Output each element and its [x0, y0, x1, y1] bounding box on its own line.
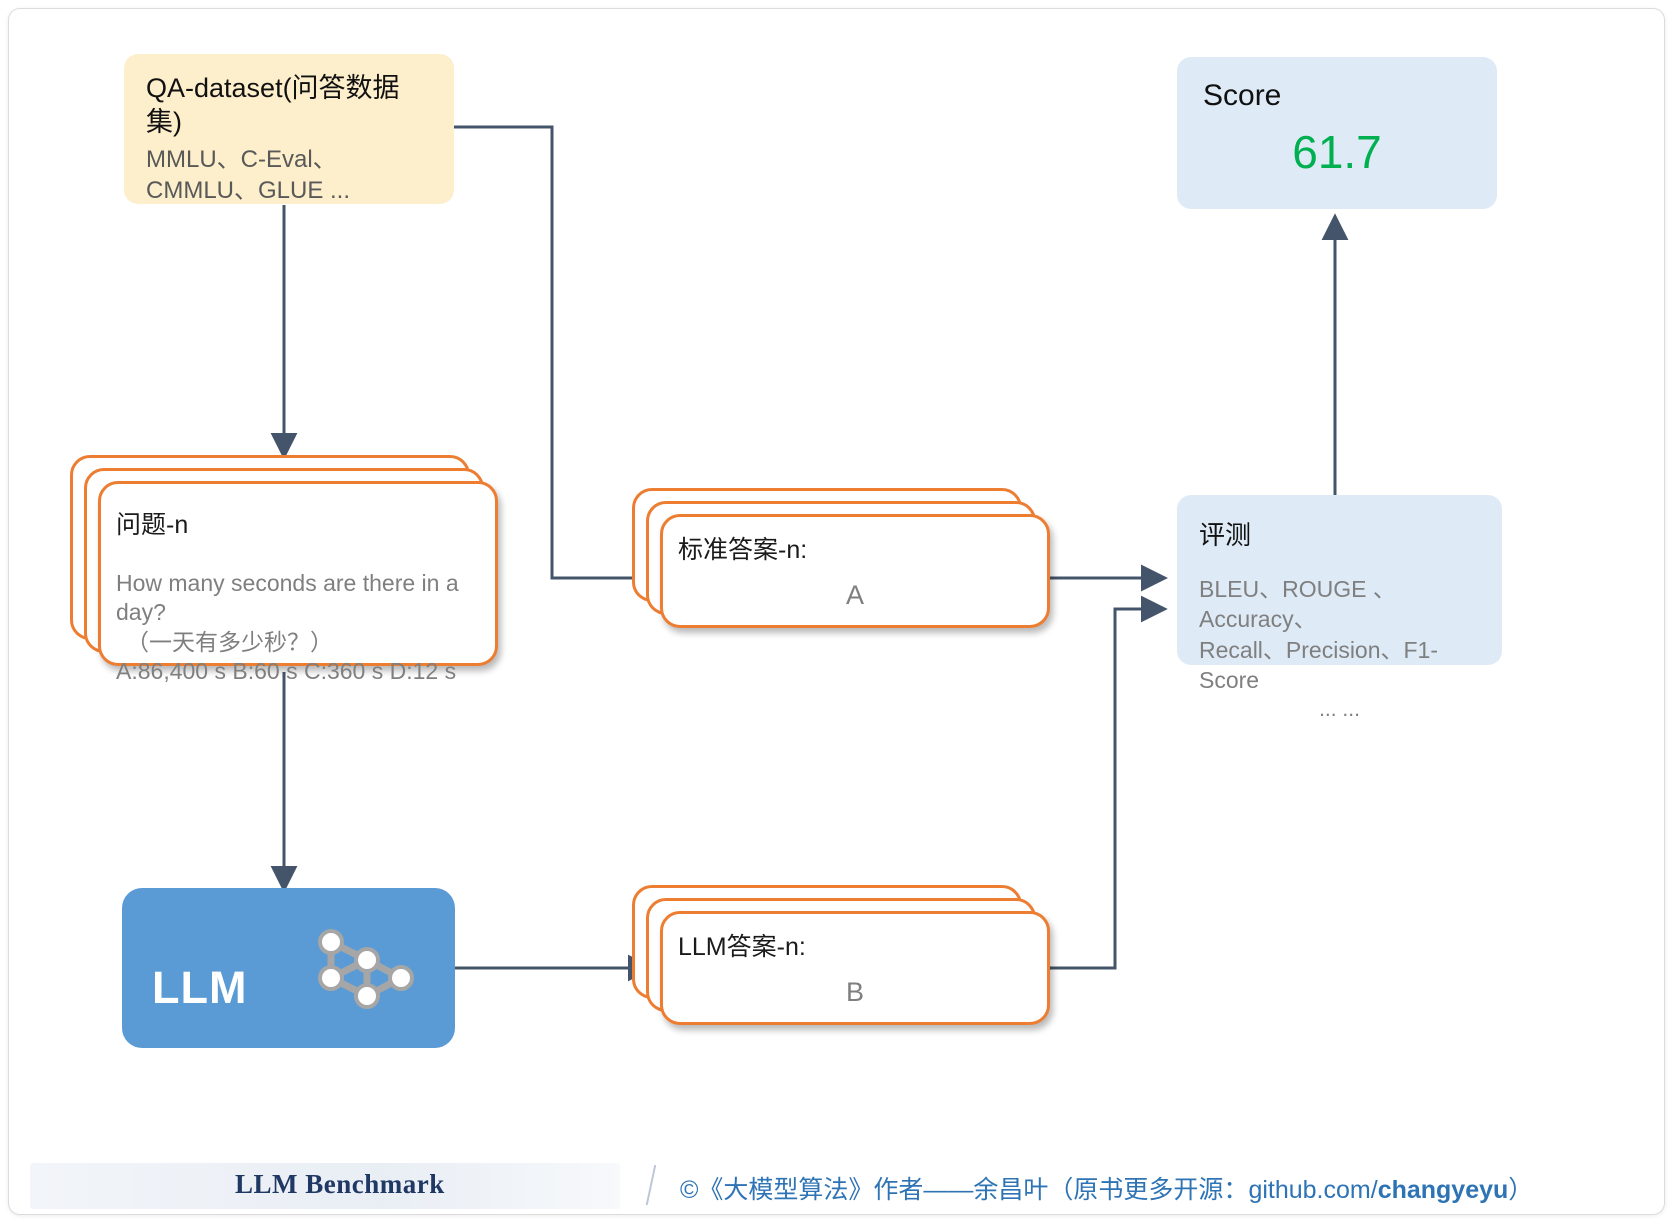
question-card-options: A:86,400 s B:60 s C:360 s D:12 s	[116, 657, 480, 686]
llm-answer-card-stack[interactable]: LLM答案-n: B	[632, 885, 1062, 1040]
llm-box[interactable]: LLM	[122, 888, 455, 1048]
question-card-stack[interactable]: 问题-n How many seconds are there in a day…	[70, 455, 500, 670]
evaluation-line2: Recall、Precision、F1-Score	[1199, 635, 1480, 696]
score-value: 61.7	[1203, 125, 1471, 179]
qa-dataset-box[interactable]: QA-dataset(问答数据集) MMLU、C-Eval、 CMMLU、GLU…	[124, 54, 454, 204]
footer: LLM Benchmark ©《大模型算法》作者——余昌叶（原书更多开源：git…	[30, 1163, 1630, 1209]
llm-answer-content: LLM答案-n: B	[660, 911, 1050, 1025]
diagram-canvas: QA-dataset(问答数据集) MMLU、C-Eval、 CMMLU、GLU…	[0, 0, 1677, 1227]
score-label: Score	[1203, 79, 1471, 113]
neural-network-icon	[309, 920, 419, 1020]
footer-credit-text: ©《大模型算法》作者——余昌叶（原书更多开源：	[680, 1176, 1248, 1204]
gold-answer-value: A	[678, 580, 1032, 611]
question-card-title: 问题-n	[116, 505, 480, 541]
evaluation-line3: ... ...	[1199, 695, 1480, 724]
evaluation-box[interactable]: 评测 BLEU、ROUGE 、Accuracy、 Recall、Precisio…	[1177, 495, 1502, 665]
footer-separator	[646, 1165, 657, 1205]
llm-answer-title: LLM答案-n:	[678, 927, 1032, 963]
gold-answer-card-stack[interactable]: 标准答案-n: A	[632, 488, 1052, 638]
footer-credit-suffix: ）	[1508, 1176, 1533, 1204]
footer-link-plain[interactable]: github.com/	[1248, 1176, 1377, 1204]
evaluation-line1: BLEU、ROUGE 、Accuracy、	[1199, 574, 1480, 635]
footer-link-bold[interactable]: changyeyu	[1378, 1176, 1509, 1204]
score-box[interactable]: Score 61.7	[1177, 57, 1497, 209]
qa-dataset-title: QA-dataset(问答数据集)	[146, 72, 432, 140]
llm-label: LLM	[152, 962, 247, 1014]
question-card-content: 问题-n How many seconds are there in a day…	[98, 481, 498, 666]
footer-title: LLM Benchmark	[235, 1169, 445, 1200]
evaluation-title: 评测	[1199, 515, 1480, 552]
question-card-text-en: How many seconds are there in a day?	[116, 569, 480, 628]
gold-answer-title: 标准答案-n:	[678, 530, 1032, 566]
llm-answer-value: B	[678, 977, 1032, 1008]
qa-dataset-line2: CMMLU、GLUE ...	[146, 175, 432, 206]
footer-credit: ©《大模型算法》作者——余昌叶（原书更多开源：github.com/changy…	[680, 1170, 1533, 1206]
qa-dataset-line1: MMLU、C-Eval、	[146, 144, 432, 175]
gold-answer-content: 标准答案-n: A	[660, 514, 1050, 628]
question-card-text-zh: （一天有多少秒？）	[116, 628, 480, 657]
